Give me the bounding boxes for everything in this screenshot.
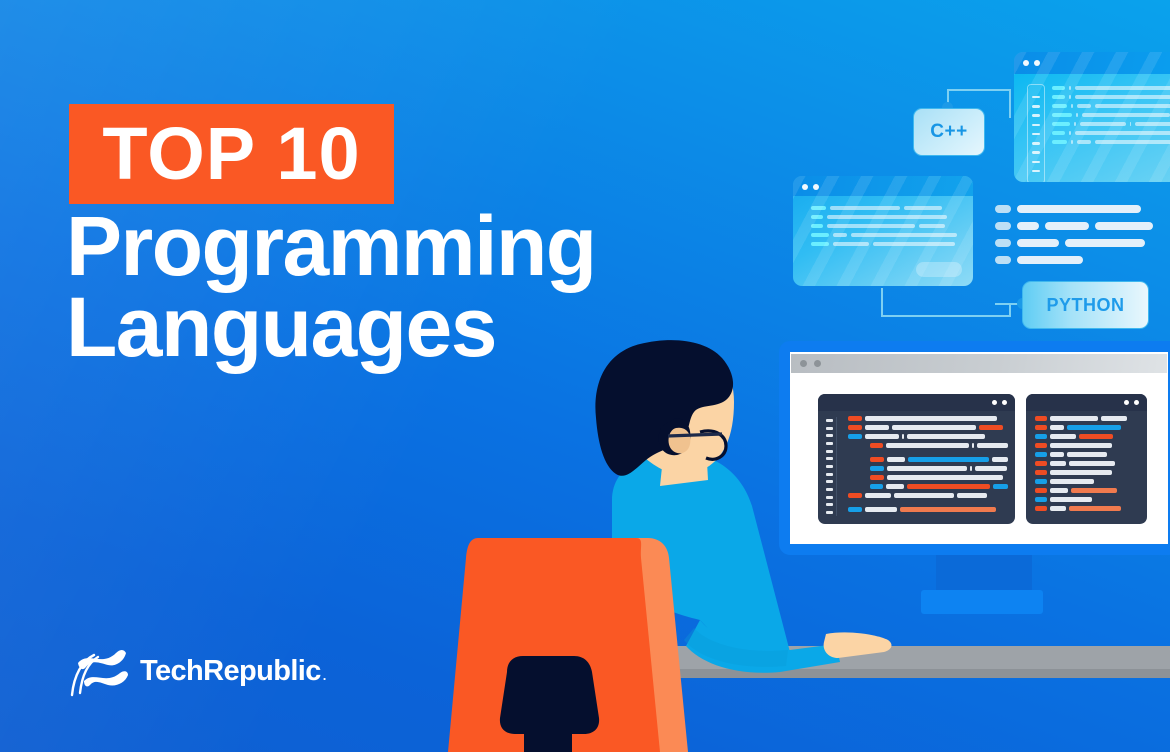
top-10-badge-label: TOP 10 <box>102 117 360 191</box>
page-title: Programming Languages <box>66 206 706 369</box>
illustration-canvas: C++ PYTHON <box>0 0 1170 752</box>
registered-mark: . <box>323 668 326 683</box>
techrepublic-logo[interactable]: TechRepublic . <box>68 645 326 697</box>
ear <box>669 428 691 454</box>
techrepublic-wave-mark <box>68 645 130 697</box>
wordmark-text: TechRepublic <box>140 655 321 688</box>
page-title-line-1: Programming <box>66 206 706 287</box>
techrepublic-wordmark: TechRepublic . <box>140 655 326 688</box>
chair-pillow <box>500 656 599 734</box>
top-10-badge: TOP 10 <box>69 104 394 204</box>
glasses-temple <box>668 434 722 436</box>
hand <box>824 632 892 658</box>
chair-stem <box>524 730 572 752</box>
page-title-line-2: Languages <box>66 287 706 368</box>
